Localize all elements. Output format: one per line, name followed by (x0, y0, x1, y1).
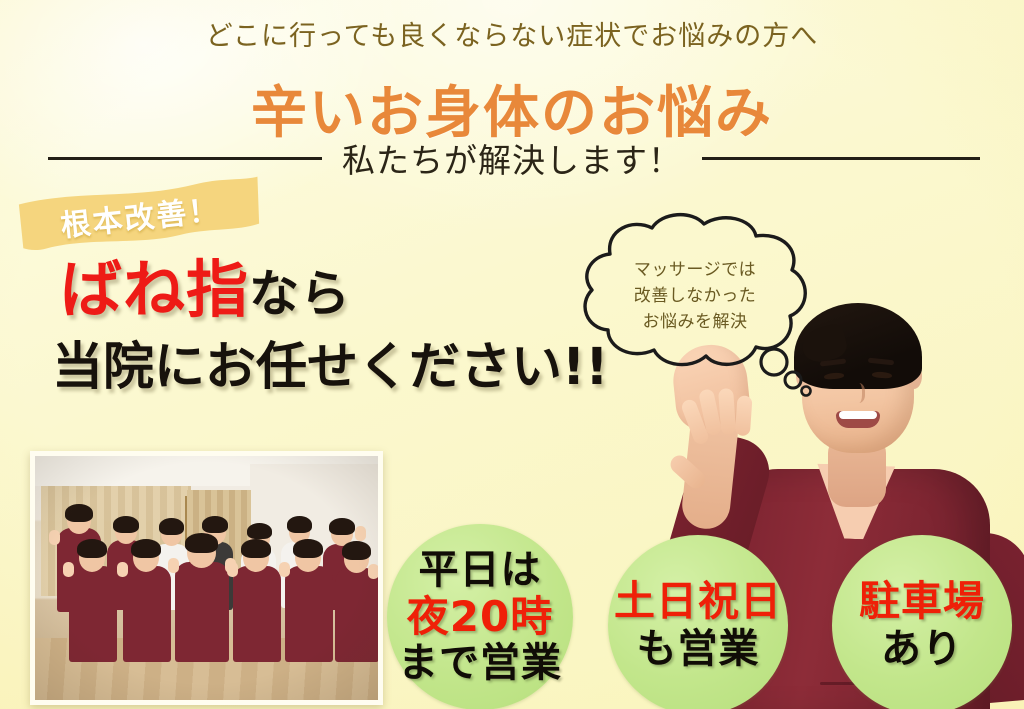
staff-nose (850, 383, 865, 403)
hero-banner: どこに行っても良くならない症状でお悩みの方へ 辛いお身体のお悩み 私たちが解決し… (0, 0, 1024, 709)
thought-bubble-line-3: お悩みを解決 (592, 310, 798, 336)
staff-finger-3 (718, 388, 736, 435)
kicker-text: どこに行っても良くならない症状でお悩みの方へ (0, 14, 1024, 53)
badge-parking-line-1: 駐車場 (859, 579, 985, 623)
main-headline-line-1: ばね指なら (60, 258, 609, 321)
staff-finger-4 (735, 395, 753, 436)
main-headline-line-2: 当院にお任せください!! (52, 325, 609, 399)
divider-line-right (702, 157, 980, 160)
badge-parking[interactable]: 駐車場 あり (832, 535, 1012, 709)
team-photo-vignette (35, 456, 378, 700)
main-headline-highlight: ばね指 (60, 253, 249, 326)
ribbon-badge: 根本改善！ (16, 174, 264, 255)
thought-bubble-text: マッサージでは 改善しなかった お悩みを解決 (592, 258, 798, 335)
badge-weekend-line-2: も営業 (637, 628, 760, 671)
divider-line-left (48, 157, 322, 160)
badge-weekday[interactable]: 平日は 夜20時 まで営業 (387, 524, 573, 709)
ribbon-label: 根本改善！ (16, 171, 265, 258)
thought-bubble: マッサージでは 改善しなかった お悩みを解決 (566, 214, 822, 390)
badge-parking-line-2: あり (881, 628, 963, 671)
badge-weekday-line-2: 夜20時 (407, 594, 553, 639)
main-headline: ばね指なら 当院にお任せください!! (60, 258, 609, 399)
thought-bubble-line-1: マッサージでは (592, 258, 798, 284)
subline-text: 私たちが解決します！ (342, 134, 682, 182)
badge-weekend[interactable]: 土日祝日 も営業 (608, 535, 788, 709)
team-photo (30, 451, 383, 705)
badge-weekday-line-1: 平日は (419, 549, 542, 592)
badge-weekend-line-1: 土日祝日 (614, 579, 782, 623)
main-headline-suffix: なら (249, 265, 351, 323)
badge-weekday-line-3: まで営業 (398, 642, 562, 685)
subline-row: 私たちが解決します！ (0, 134, 1024, 182)
staff-mouth (836, 411, 880, 428)
thought-bubble-line-2: 改善しなかった (592, 284, 798, 310)
